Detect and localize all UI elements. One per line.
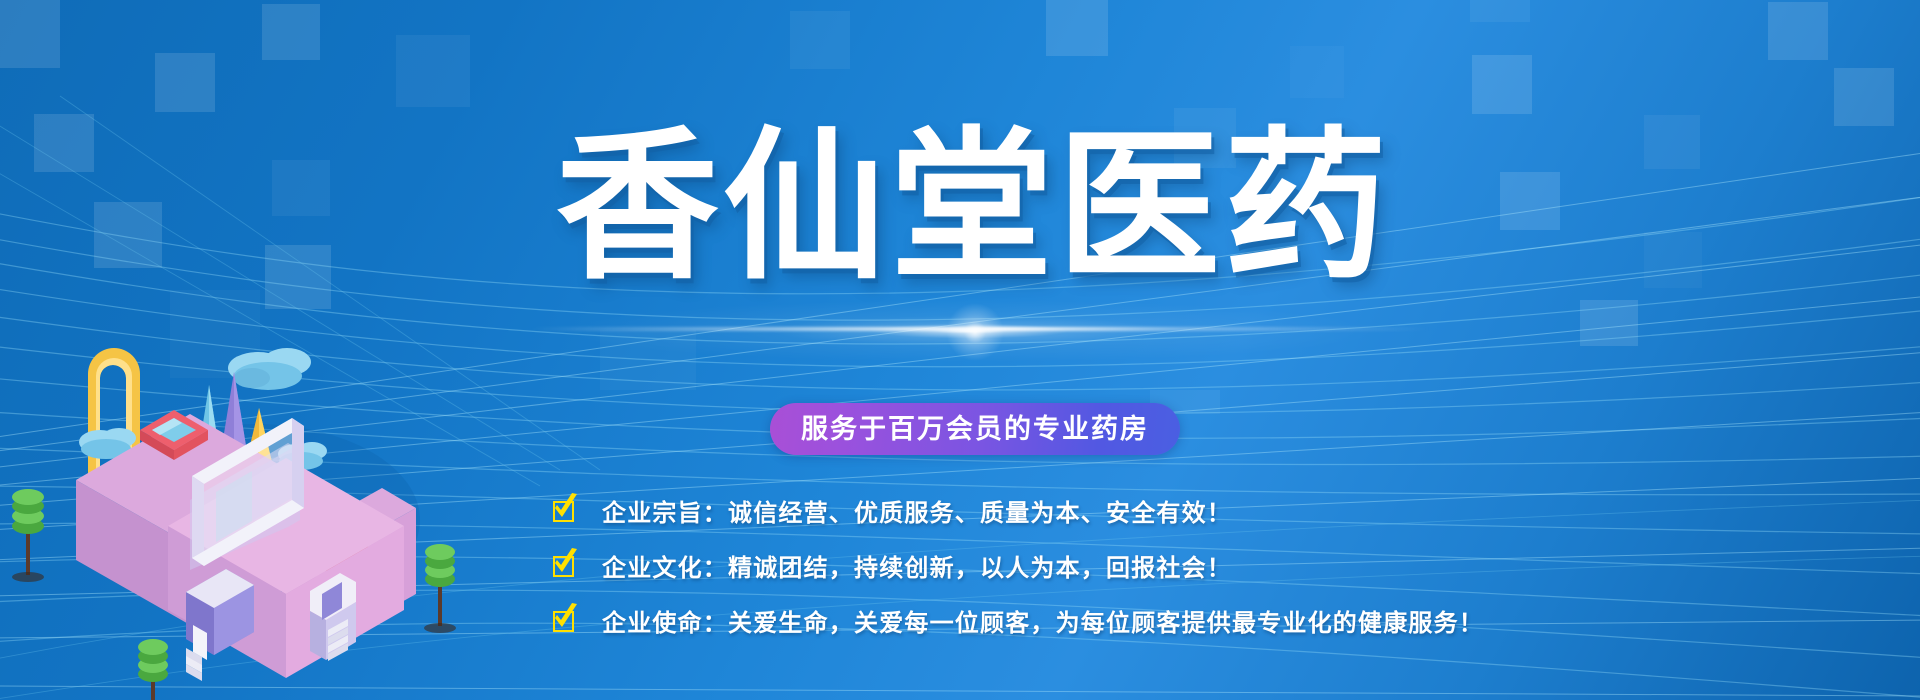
list-item: 企业使命：关爱生命，关爱每一位顾客，为每位顾客提供最专业化的健康服务！: [552, 593, 1872, 648]
value-proposition-list: 企业宗旨：诚信经营、优质服务、质量为本、安全有效！ 企业文化：精诚团结，持续创新…: [552, 483, 1872, 648]
decor-square: [1768, 2, 1828, 60]
promotional-banner: 香仙堂医药 服务于百万会员的专业药房 企业宗旨：诚信经营、优质服务、质量为本、安…: [0, 0, 1920, 700]
isometric-pharmacy-city-illustration: [0, 330, 500, 700]
rooftop-pool: [140, 410, 208, 460]
tagline-badge: 服务于百万会员的专业药房: [770, 403, 1180, 455]
tagline-badge-label: 服务于百万会员的专业药房: [801, 416, 1149, 443]
decor-square: [600, 330, 696, 390]
entrance-door: [186, 569, 254, 681]
decor-square: [34, 114, 94, 172]
entrance-door: [310, 573, 356, 661]
decor-square: [1644, 115, 1700, 169]
list-item-label: 企业使命：关爱生命，关爱每一位顾客，为每位顾客提供最专业化的健康服务！: [602, 603, 1484, 638]
decor-square: [272, 160, 330, 216]
lollipop-tree: [12, 489, 44, 582]
rooftop-pool: [300, 526, 368, 576]
lollipop-tree: [138, 639, 168, 700]
decor-square: [0, 0, 60, 68]
building-block-left: [76, 414, 320, 634]
decor-square: [1834, 68, 1894, 126]
decor-square: [1470, 0, 1530, 22]
list-item-label: 企业宗旨：诚信经营、优质服务、质量为本、安全有效！: [602, 493, 1232, 528]
decor-square: [1472, 55, 1532, 114]
cloud: [228, 348, 311, 390]
brand-title: 香仙堂医药: [556, 108, 1416, 308]
decor-square: [265, 245, 331, 309]
cone-spire: [246, 408, 272, 462]
cloud: [79, 428, 136, 459]
yellow-arch: [88, 348, 140, 478]
list-item: 企业文化：精诚团结，持续创新，以人为本，回报社会！: [552, 538, 1872, 593]
decor-square: [1644, 232, 1702, 288]
check-square-icon: [552, 553, 578, 579]
decor-square: [94, 202, 162, 268]
list-item-label: 企业文化：精诚团结，持续创新，以人为本，回报社会！: [602, 548, 1232, 583]
building-block-right: [282, 488, 416, 650]
decor-square: [396, 35, 470, 107]
decor-square: [1580, 300, 1638, 346]
decor-square: [1500, 172, 1560, 230]
lens-flare-streak: [530, 327, 1430, 331]
building-block-center: [168, 458, 404, 678]
glass-frame: [190, 418, 304, 570]
decor-square: [1046, 0, 1108, 56]
cloud: [278, 442, 327, 470]
check-square-icon: [552, 608, 578, 634]
illustration-shadow: [90, 424, 420, 616]
check-square-icon: [552, 498, 578, 524]
cone-spire: [220, 372, 248, 458]
cone-spire: [198, 385, 220, 455]
decor-square: [155, 53, 215, 112]
decor-square: [1290, 46, 1344, 98]
lollipop-tree: [424, 544, 456, 633]
decor-square: [170, 290, 260, 378]
stairs: [328, 619, 348, 661]
decor-square: [262, 4, 320, 60]
decor-square: [790, 11, 850, 69]
list-item: 企业宗旨：诚信经营、优质服务、质量为本、安全有效！: [552, 483, 1872, 538]
lens-flare-core: [560, 300, 1380, 362]
